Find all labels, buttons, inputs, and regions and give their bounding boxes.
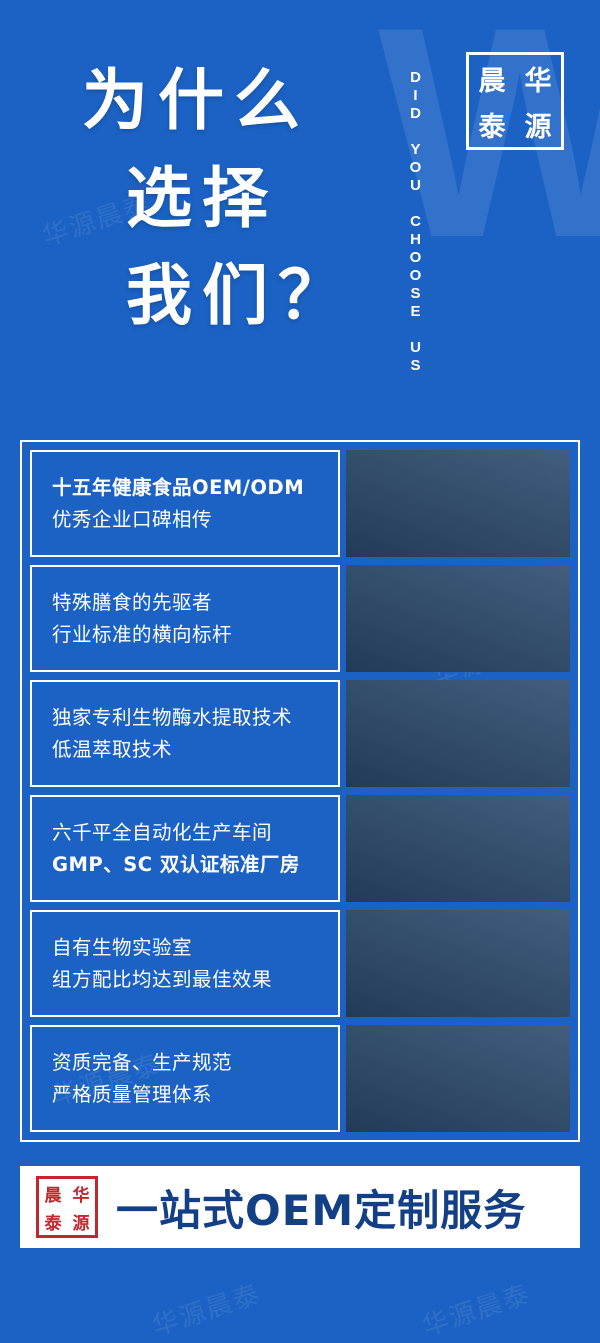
feature-line-1: 自有生物实验室: [52, 932, 338, 964]
footer-seal-char-3: 源: [67, 1207, 95, 1235]
feature-text: 特殊膳食的先驱者 行业标准的横向标杆: [30, 565, 340, 672]
feature-text: 资质完备、生产规范 严格质量管理体系: [30, 1025, 340, 1132]
feature-row: 独家专利生物酶水提取技术 低温萃取技术: [30, 680, 570, 787]
feature-row: 十五年健康食品OEM/ODM 优秀企业口碑相传: [30, 450, 570, 557]
headline-line-1: 为什么: [82, 52, 354, 150]
seal-char-4: 泰: [469, 101, 515, 147]
watermark-6: 华源晨泰: [417, 1274, 535, 1343]
header-section: WHY 为什么 选择 我们？ DID YOU CHOOSE US 华 晨 源 泰: [0, 0, 600, 432]
feature-line-2: 组方配比均达到最佳效果: [52, 964, 338, 996]
lab-technician-photo: [346, 450, 570, 557]
feature-row: 特殊膳食的先驱者 行业标准的横向标杆: [30, 565, 570, 672]
feature-text: 独家专利生物酶水提取技术 低温萃取技术: [30, 680, 340, 787]
conference-audience-photo: [346, 565, 570, 672]
feature-line-1: 资质完备、生产规范: [52, 1047, 338, 1079]
footer-seal-logo: 华 晨 源 泰: [36, 1176, 98, 1238]
feature-line-2: GMP、SC 双认证标准厂房: [52, 849, 338, 881]
feature-row: 自有生物实验室 组方配比均达到最佳效果: [30, 910, 570, 1017]
feature-line-2: 行业标准的横向标杆: [52, 619, 338, 651]
footer-slogan: 一站式OEM定制服务: [116, 1177, 526, 1238]
feature-row: 资质完备、生产规范 严格质量管理体系: [30, 1025, 570, 1132]
feature-line-1: 六千平全自动化生产车间: [52, 817, 338, 849]
page-title: 为什么 选择 我们？: [82, 52, 354, 345]
seal-char-2: 晨: [469, 55, 515, 101]
headline-line-3: 我们？: [126, 247, 354, 345]
footer-seal-char-4: 泰: [39, 1207, 67, 1235]
seal-char-1: 华: [515, 55, 561, 101]
lab-staff-photo: [346, 910, 570, 1017]
footer-banner: 华 晨 源 泰 一站式OEM定制服务: [20, 1166, 580, 1248]
brand-seal-logo: 华 晨 源 泰: [466, 52, 564, 150]
feature-line-2: 严格质量管理体系: [52, 1079, 338, 1111]
feature-line-1: 独家专利生物酶水提取技术: [52, 702, 338, 734]
vertical-subtitle: DID YOU CHOOSE US: [399, 52, 427, 392]
filling-line-photo: [346, 680, 570, 787]
cleanroom-workshop-photo: [346, 795, 570, 902]
feature-line-2: 优秀企业口碑相传: [52, 504, 338, 536]
headline-line-2: 选择: [126, 150, 354, 248]
feature-list: 十五年健康食品OEM/ODM 优秀企业口碑相传 特殊膳食的先驱者 行业标准的横向…: [20, 440, 580, 1142]
footer-seal-char-1: 华: [67, 1179, 95, 1207]
tablet-production-photo: [346, 1025, 570, 1132]
footer-seal-char-2: 晨: [39, 1179, 67, 1207]
feature-text: 六千平全自动化生产车间 GMP、SC 双认证标准厂房: [30, 795, 340, 902]
feature-text: 自有生物实验室 组方配比均达到最佳效果: [30, 910, 340, 1017]
seal-char-3: 源: [515, 101, 561, 147]
feature-row: 六千平全自动化生产车间 GMP、SC 双认证标准厂房: [30, 795, 570, 902]
feature-line-1: 十五年健康食品OEM/ODM: [52, 472, 338, 504]
watermark-5: 华源晨泰: [147, 1274, 265, 1343]
feature-line-2: 低温萃取技术: [52, 734, 338, 766]
feature-text: 十五年健康食品OEM/ODM 优秀企业口碑相传: [30, 450, 340, 557]
feature-line-1: 特殊膳食的先驱者: [52, 587, 338, 619]
